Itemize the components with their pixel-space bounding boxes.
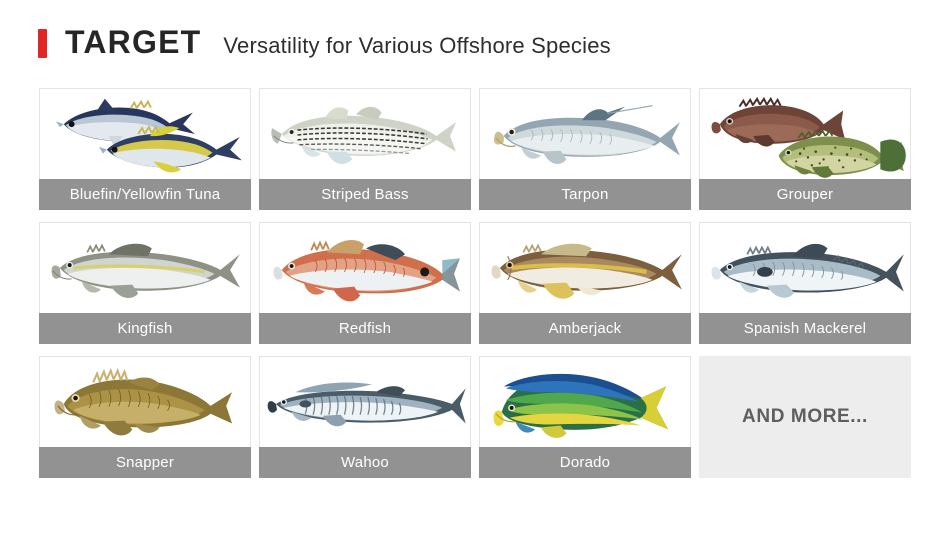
species-caption-amberjack: Amberjack <box>479 313 691 344</box>
species-image-bluefin-yellowfin-tuna <box>39 88 251 179</box>
species-card-wahoo[interactable]: Wahoo <box>259 356 471 478</box>
species-label: Spanish Mackerel <box>744 320 866 337</box>
species-label: Wahoo <box>341 454 389 471</box>
fish-illustration-redfish <box>260 223 470 313</box>
page-subtitle: Versatility for Various Offshore Species <box>223 35 610 57</box>
red-accent-bar <box>38 29 47 58</box>
species-image-dorado <box>479 356 691 447</box>
species-image-redfish <box>259 222 471 313</box>
species-label: Bluefin/Yellowfin Tuna <box>70 186 221 203</box>
species-card-redfish[interactable]: Redfish <box>259 222 471 344</box>
species-card-tarpon[interactable]: Tarpon <box>479 88 691 210</box>
species-label: Tarpon <box>561 186 608 203</box>
and-more-panel[interactable]: AND MORE... <box>699 356 911 478</box>
fish-illustration-snapper <box>40 357 250 447</box>
fish-illustration-bluefin-yellowfin-tuna <box>40 89 250 179</box>
fish-illustration-spanish-mackerel <box>700 223 910 313</box>
species-caption-striped-bass: Striped Bass <box>259 179 471 210</box>
species-caption-tarpon: Tarpon <box>479 179 691 210</box>
species-label: Redfish <box>339 320 391 337</box>
fish-illustration-dorado <box>480 357 690 447</box>
species-caption-grouper: Grouper <box>699 179 911 210</box>
fish-illustration-amberjack <box>480 223 690 313</box>
species-caption-wahoo: Wahoo <box>259 447 471 478</box>
species-image-wahoo <box>259 356 471 447</box>
species-card-bluefin-yellowfin-tuna[interactable]: Bluefin/Yellowfin Tuna <box>39 88 251 210</box>
species-caption-kingfish: Kingfish <box>39 313 251 344</box>
species-label: Striped Bass <box>321 186 408 203</box>
fish-illustration-kingfish <box>40 223 250 313</box>
species-label: Dorado <box>560 454 610 471</box>
species-caption-bluefin-yellowfin-tuna: Bluefin/Yellowfin Tuna <box>39 179 251 210</box>
page-title: TARGET <box>65 26 201 58</box>
species-card-snapper[interactable]: Snapper <box>39 356 251 478</box>
species-label: Kingfish <box>118 320 173 337</box>
species-image-snapper <box>39 356 251 447</box>
species-caption-dorado: Dorado <box>479 447 691 478</box>
fish-illustration-striped-bass <box>260 89 470 179</box>
species-card-amberjack[interactable]: Amberjack <box>479 222 691 344</box>
species-label: Snapper <box>116 454 174 471</box>
species-image-amberjack <box>479 222 691 313</box>
species-caption-redfish: Redfish <box>259 313 471 344</box>
species-card-spanish-mackerel[interactable]: Spanish Mackerel <box>699 222 911 344</box>
species-image-grouper <box>699 88 911 179</box>
fish-illustration-grouper <box>700 89 910 179</box>
species-card-and-more[interactable]: AND MORE... <box>699 356 911 478</box>
species-card-dorado[interactable]: Dorado <box>479 356 691 478</box>
fish-illustration-tarpon <box>480 89 690 179</box>
and-more-label: AND MORE... <box>742 406 868 428</box>
species-caption-snapper: Snapper <box>39 447 251 478</box>
species-image-spanish-mackerel <box>699 222 911 313</box>
page-header: TARGET Versatility for Various Offshore … <box>38 26 611 58</box>
species-card-grouper[interactable]: Grouper <box>699 88 911 210</box>
species-grid: Bluefin/Yellowfin TunaStriped BassTarpon… <box>39 88 911 478</box>
species-caption-spanish-mackerel: Spanish Mackerel <box>699 313 911 344</box>
species-label: Grouper <box>777 186 833 203</box>
species-image-striped-bass <box>259 88 471 179</box>
species-image-tarpon <box>479 88 691 179</box>
species-image-kingfish <box>39 222 251 313</box>
fish-illustration-wahoo <box>260 357 470 447</box>
species-card-striped-bass[interactable]: Striped Bass <box>259 88 471 210</box>
species-card-kingfish[interactable]: Kingfish <box>39 222 251 344</box>
species-label: Amberjack <box>549 320 622 337</box>
